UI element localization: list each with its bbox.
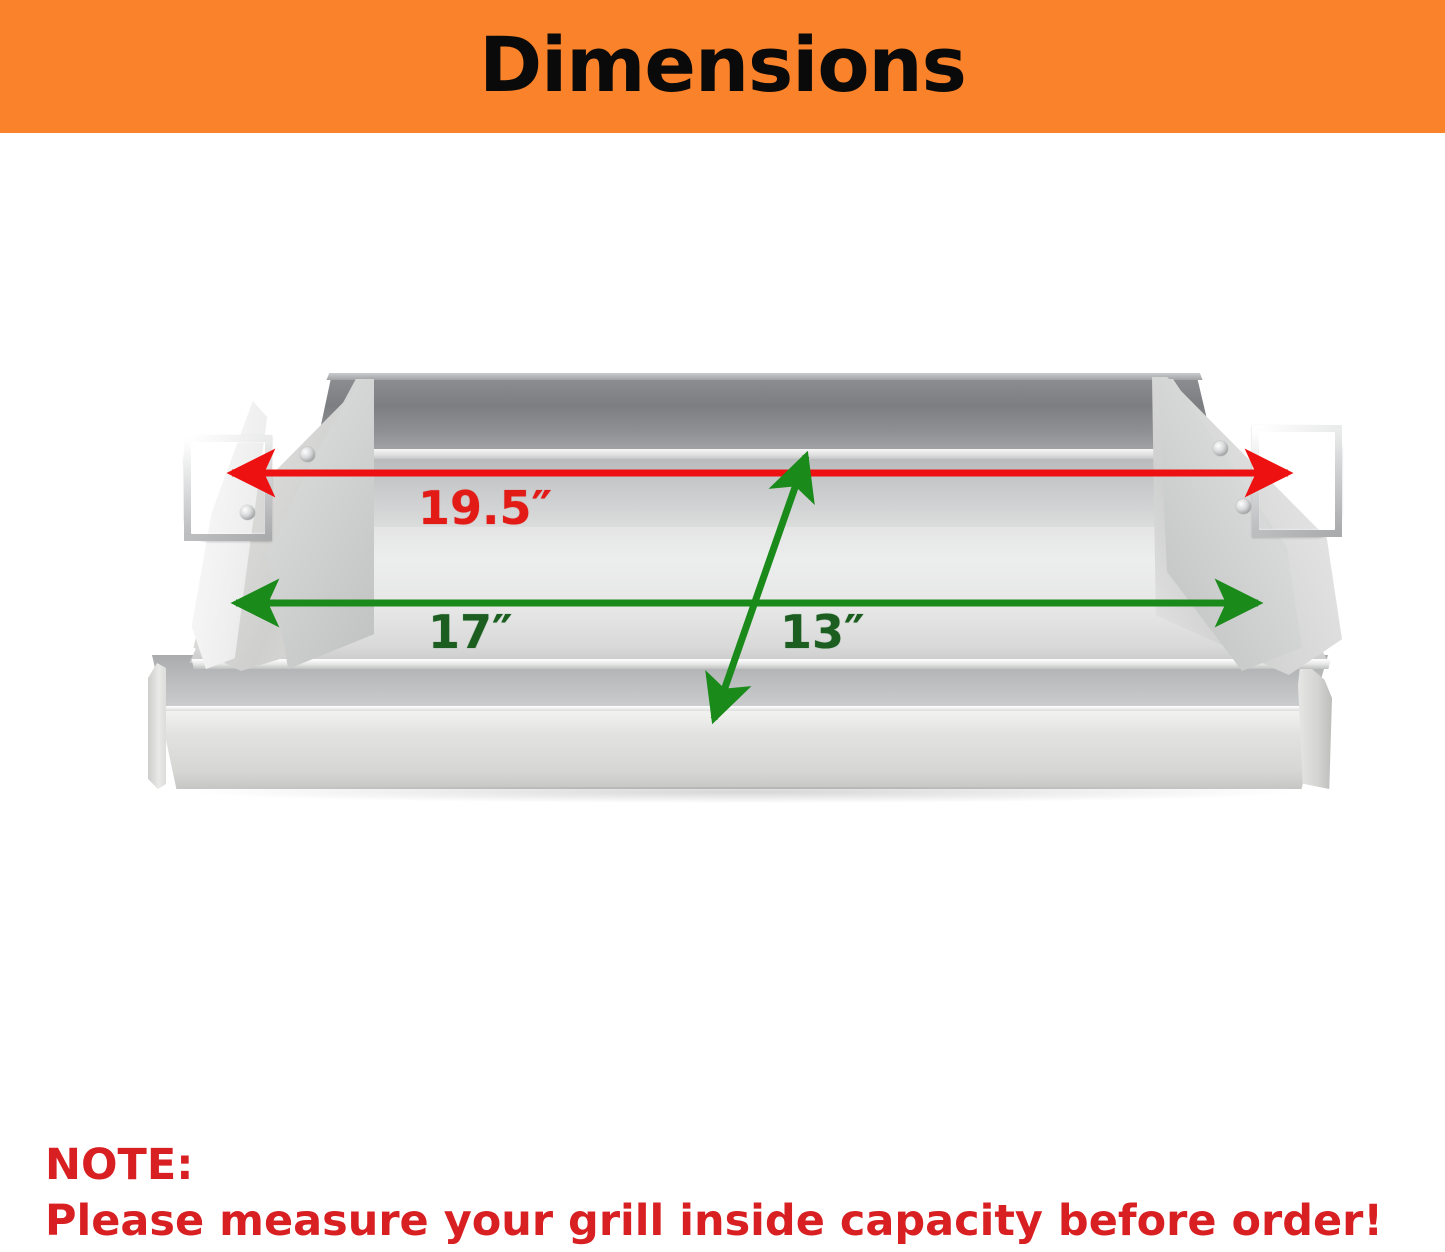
rivet-left-upper (300, 447, 315, 462)
note-block: NOTE: Please measure your grill inside c… (45, 1138, 1405, 1250)
griddle-left-handle (184, 435, 272, 541)
contact-shadow (200, 787, 1290, 803)
header-banner: Dimensions (0, 0, 1445, 133)
width-dimension-label: 19.5″ (418, 485, 552, 531)
griddle-front-lip (180, 659, 1340, 669)
drip-tray-right-end (1298, 659, 1332, 789)
note-body: Please measure your grill inside capacit… (45, 1194, 1405, 1250)
griddle-back-wall (315, 377, 1215, 453)
product-figure: 19.5″ 17″ 13″ (0, 133, 1445, 1133)
griddle-product-illustration (140, 363, 1340, 803)
drip-tray-front-face (148, 711, 1330, 789)
note-heading: NOTE: (45, 1138, 1405, 1194)
griddle-back-wall-rim (312, 373, 1218, 380)
griddle-right-handle (1252, 425, 1342, 537)
page-title: Dimensions (479, 27, 966, 103)
drip-tray-left-end (148, 663, 166, 789)
depth-dimension-label: 17″ (428, 609, 513, 655)
rivet-right-lower (1236, 499, 1251, 514)
inner-dimension-label: 13″ (780, 609, 865, 655)
rivet-right-upper (1213, 441, 1228, 456)
